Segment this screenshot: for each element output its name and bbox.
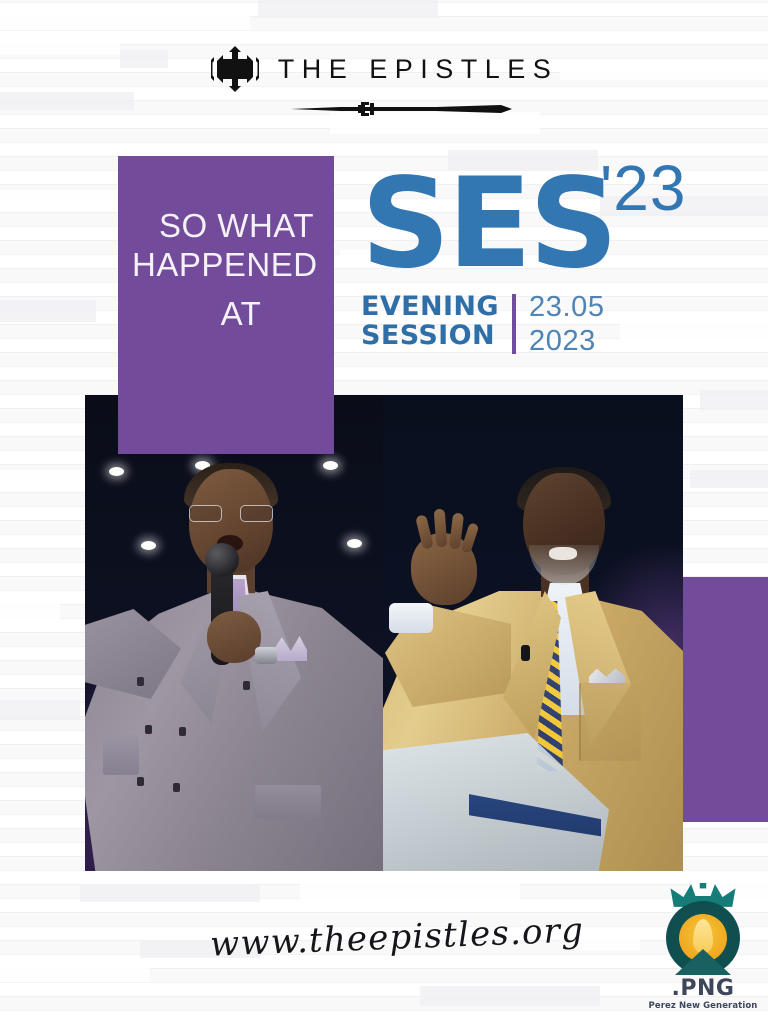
left-speaker-pocket-flap xyxy=(255,785,321,819)
epistles-cross-emblem-icon xyxy=(210,44,260,94)
headline-line-1: SO WHAT xyxy=(132,206,320,245)
brand-header: THE EPISTLES xyxy=(0,44,768,120)
session-date-divider xyxy=(512,294,516,354)
right-speaker-lapel-mic xyxy=(521,645,530,661)
poster-canvas: THE EPISTLES SO WHAT HAPPENED AT SES '23… xyxy=(0,0,768,1024)
right-speaker-breast-pocket xyxy=(579,683,641,761)
png-logo-tagline: Perez New Generation xyxy=(648,1001,758,1011)
event-session-name: EVENING SESSION xyxy=(361,292,499,350)
date-line-1: 23.05 xyxy=(529,293,605,322)
preacher-with-microphone-photo xyxy=(85,395,383,871)
date-line-2: 2023 xyxy=(529,327,605,356)
sword-divider-icon xyxy=(286,98,516,120)
left-speaker-glasses xyxy=(189,505,273,520)
brand-logo-row: THE EPISTLES xyxy=(210,44,559,94)
event-session-row: EVENING SESSION 23.05 2023 xyxy=(361,292,605,356)
left-speaker-hand xyxy=(207,611,261,663)
session-line-1: EVENING xyxy=(361,292,499,321)
event-date: 23.05 2023 xyxy=(529,292,605,356)
left-speaker-microphone-head xyxy=(205,543,239,577)
headline-line-3: AT xyxy=(132,294,320,333)
event-year-tag: '23 xyxy=(600,156,686,220)
png-logo-name: .PNG xyxy=(648,978,758,1000)
left-speaker-watch xyxy=(255,647,277,664)
event-acronym: SES xyxy=(361,160,615,288)
speaker-photo-strip xyxy=(85,395,683,871)
preacher-at-lectern-photo xyxy=(383,395,683,871)
png-circle-mark-icon xyxy=(662,893,744,975)
headline-purple-box: SO WHAT HAPPENED AT xyxy=(118,156,334,454)
right-speaker-cuff xyxy=(389,603,433,633)
brand-name: THE EPISTLES xyxy=(274,56,559,83)
session-line-2: SESSION xyxy=(361,321,499,350)
right-speaker-mouth xyxy=(549,547,577,560)
headline-line-2: HAPPENED xyxy=(132,245,320,284)
png-logo: .PNG Perez New Generation xyxy=(648,893,758,1013)
side-purple-accent xyxy=(683,577,768,822)
left-speaker-pocket-flap-2 xyxy=(103,735,139,775)
